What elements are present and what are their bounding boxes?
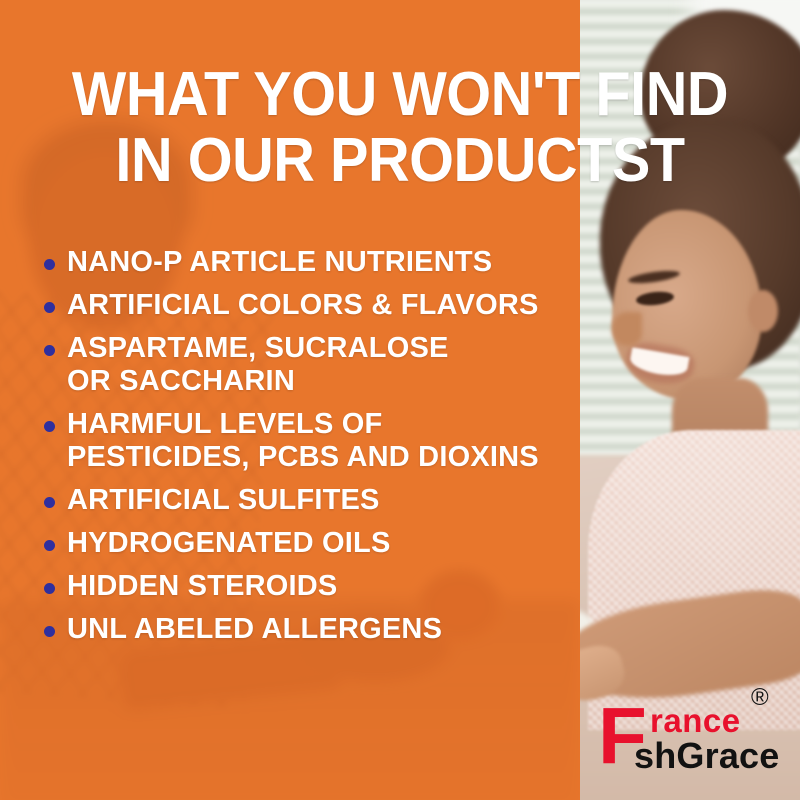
bullet-dot-icon — [44, 259, 55, 270]
bullet-dot-icon — [44, 540, 55, 551]
bullet-dot-icon — [44, 497, 55, 508]
bullet-dot-icon — [44, 302, 55, 313]
list-item-label: ARTIFICIAL SULFITES — [67, 484, 380, 517]
headline-line-2: IN OUR PRODUCTST — [28, 128, 772, 194]
bullet-dot-icon — [44, 345, 55, 356]
bullet-dot-icon — [44, 626, 55, 637]
list-item-label: HIDDEN STEROIDS — [67, 570, 337, 603]
list-item: ARTIFICIAL COLORS & FLAVORS — [44, 289, 584, 322]
woman-ear — [748, 290, 778, 332]
list-item: ARTIFICIAL SULFITES — [44, 484, 584, 517]
list-item: NANO-P ARTICLE NUTRIENTS — [44, 246, 584, 279]
woman-nose — [612, 312, 642, 346]
list-item-label: NANO-P ARTICLE NUTRIENTS — [67, 246, 492, 279]
brand-logo: F rance shGrace ® — [598, 700, 793, 778]
bullet-dot-icon — [44, 583, 55, 594]
bullet-dot-icon — [44, 421, 55, 432]
list-item-label: UNL ABELED ALLERGENS — [67, 613, 442, 646]
poster-headline: WHAT YOU WON'T FIND IN OUR PRODUCTST — [28, 62, 772, 194]
excluded-ingredients-list: NANO-P ARTICLE NUTRIENTS ARTIFICIAL COLO… — [44, 246, 584, 656]
registered-trademark-icon: ® — [751, 686, 769, 710]
list-item-label: ASPARTAME, SUCRALOSE OR SACCHARIN — [67, 332, 449, 398]
headline-line-1: WHAT YOU WON'T FIND — [28, 62, 772, 128]
list-item: HARMFUL LEVELS OF PESTICIDES, PCBS AND D… — [44, 408, 584, 474]
list-item-label: ARTIFICIAL COLORS & FLAVORS — [67, 289, 539, 322]
list-item: HYDROGENATED OILS — [44, 527, 584, 560]
list-item-label: HYDROGENATED OILS — [67, 527, 391, 560]
list-item-label: HARMFUL LEVELS OF PESTICIDES, PCBS AND D… — [67, 408, 539, 474]
list-item: ASPARTAME, SUCRALOSE OR SACCHARIN — [44, 332, 584, 398]
logo-word-fishgrace: shGrace — [634, 738, 780, 774]
list-item: HIDDEN STEROIDS — [44, 570, 584, 603]
logo-word-france: rance — [650, 704, 741, 737]
promotional-poster: WHAT YOU WON'T FIND IN OUR PRODUCTST NAN… — [0, 0, 800, 800]
list-item: UNL ABELED ALLERGENS — [44, 613, 584, 646]
